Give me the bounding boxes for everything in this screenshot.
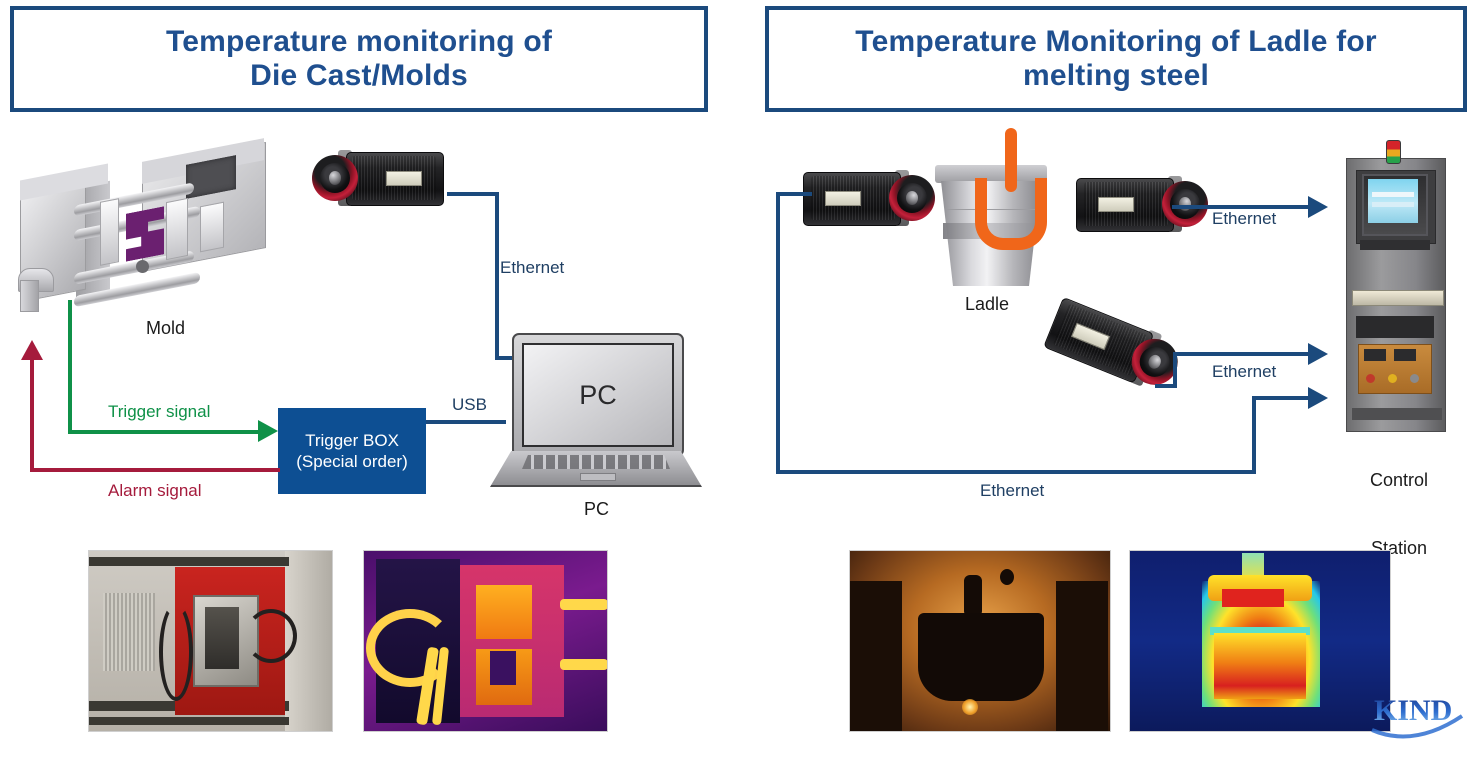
ethernet-line-segment <box>1252 396 1312 400</box>
station-knob <box>1388 374 1397 383</box>
left-panel-title: Temperature monitoring of Die Cast/Molds <box>166 25 552 92</box>
mold-label: Mold <box>146 318 185 339</box>
thermal-camera-ladle-left <box>795 172 935 230</box>
usb-label: USB <box>452 395 487 415</box>
thermal-hot-wire <box>560 659 608 670</box>
mold-platen <box>100 198 119 266</box>
thermal-hot-wire <box>560 599 608 610</box>
photo-ladle-silhouette <box>918 613 1044 701</box>
camera-lens-glass <box>329 171 341 185</box>
right-panel-title: Temperature Monitoring of Ladle for melt… <box>855 25 1376 92</box>
mold-platen <box>166 198 188 260</box>
station-display-window <box>1364 349 1386 361</box>
trigger-signal-label: Trigger signal <box>108 402 210 422</box>
ladle-real-photo <box>849 550 1111 732</box>
ethernet-line-segment <box>447 192 499 196</box>
ethernet-line-segment <box>776 192 812 196</box>
laptop-keyboard <box>522 455 670 469</box>
photo-ladle-stem <box>964 575 982 617</box>
thermal-cool-spot <box>490 651 516 685</box>
right-panel-title-box: Temperature Monitoring of Ladle for melt… <box>765 6 1467 112</box>
station-base <box>1352 408 1442 420</box>
photo-furnace-pillar <box>850 581 902 731</box>
pc-laptop: PC <box>490 333 702 493</box>
kind-logo-icon: KIND <box>1368 686 1464 744</box>
ethernet-label-bottom: Ethernet <box>980 481 1044 501</box>
ethernet-arrow <box>1308 343 1328 365</box>
mold-sprue-dot <box>136 260 149 273</box>
photo-hose <box>245 609 297 663</box>
alarm-signal-label: Alarm signal <box>108 481 202 501</box>
alarm-signal-arrow <box>21 340 43 360</box>
trigger-box-line1: Trigger BOX <box>305 430 399 451</box>
ethernet-label-mid: Ethernet <box>1212 362 1276 382</box>
photo-molten-glow <box>962 699 978 715</box>
ethernet-line-segment <box>776 192 780 474</box>
station-screen-line <box>1372 202 1414 207</box>
laptop-trackpad <box>580 473 616 481</box>
photo-mesh-panel <box>103 593 155 671</box>
usb-line <box>426 420 506 424</box>
station-drive-bay <box>1356 316 1434 338</box>
thermal-hottest-zone <box>1222 589 1284 607</box>
photo-cavity <box>205 607 239 669</box>
ladle-label: Ladle <box>965 294 1009 315</box>
tower-light-icon <box>1386 140 1401 164</box>
ethernet-line-segment <box>776 470 1256 474</box>
camera-label-plate <box>1098 197 1134 212</box>
trigger-box[interactable]: Trigger BOX (Special order) <box>278 408 426 494</box>
photo-crane-hook <box>1000 569 1014 585</box>
ethernet-line-segment <box>1252 396 1256 474</box>
mold-part-cavity-shape <box>126 206 164 261</box>
pc-caption: PC <box>584 499 609 520</box>
camera-label-plate <box>825 191 861 206</box>
thermal-hot-region <box>476 585 532 639</box>
photo-rail <box>89 557 289 566</box>
kind-logo: KIND <box>1368 686 1464 744</box>
molten-pour-curve <box>975 178 1047 250</box>
ladle-thermal-photo <box>1129 550 1391 732</box>
left-title-line1: Temperature monitoring of <box>166 25 552 59</box>
station-screen <box>1368 179 1418 223</box>
diagram-canvas: Temperature monitoring of Die Cast/Molds… <box>0 0 1469 757</box>
alarm-signal-line <box>30 360 34 470</box>
trigger-box-line2: (Special order) <box>296 451 408 472</box>
station-keyboard <box>1360 240 1430 250</box>
control-station <box>1346 140 1444 430</box>
trigger-signal-line <box>68 430 260 434</box>
pc-screen-label: PC <box>579 380 617 411</box>
left-title-line2: Die Cast/Molds <box>166 59 552 93</box>
mold-real-photo <box>88 550 333 732</box>
mold-ejector-plate <box>200 202 224 253</box>
photo-hose <box>159 603 193 701</box>
trigger-signal-arrow <box>258 420 278 442</box>
thermal-camera-left <box>312 152 452 210</box>
trigger-signal-line <box>68 300 72 434</box>
mold-thermal-photo <box>363 550 608 732</box>
control-station-caption-line1: Control <box>1355 469 1443 492</box>
right-title-line1: Temperature Monitoring of Ladle for <box>855 25 1376 59</box>
right-title-line2: melting steel <box>855 59 1376 93</box>
ethernet-arrow <box>1308 387 1328 409</box>
station-screen-line <box>1372 192 1414 197</box>
alarm-signal-line <box>30 468 280 472</box>
ethernet-label-top: Ethernet <box>1212 209 1276 229</box>
ethernet-line-segment <box>1173 352 1312 356</box>
laptop-screen: PC <box>522 343 674 447</box>
photo-furnace-pillar <box>1056 581 1108 731</box>
camera-lens-glass <box>906 191 918 205</box>
left-panel-title-box: Temperature monitoring of Die Cast/Molds <box>10 6 708 112</box>
camera-label-plate <box>386 171 422 186</box>
ethernet-label-left: Ethernet <box>500 258 564 278</box>
mold-outlet-pipe-down <box>20 280 39 312</box>
thermal-ladle-body <box>1214 633 1306 699</box>
ethernet-line-segment <box>1173 352 1177 386</box>
station-knob <box>1366 374 1375 383</box>
station-shelf <box>1352 290 1444 306</box>
kind-logo-text: KIND <box>1374 694 1452 727</box>
ethernet-arrow <box>1308 196 1328 218</box>
station-knob <box>1410 374 1419 383</box>
photo-rail <box>89 717 289 725</box>
station-display-window <box>1394 349 1416 361</box>
mold-illustration <box>14 150 276 315</box>
